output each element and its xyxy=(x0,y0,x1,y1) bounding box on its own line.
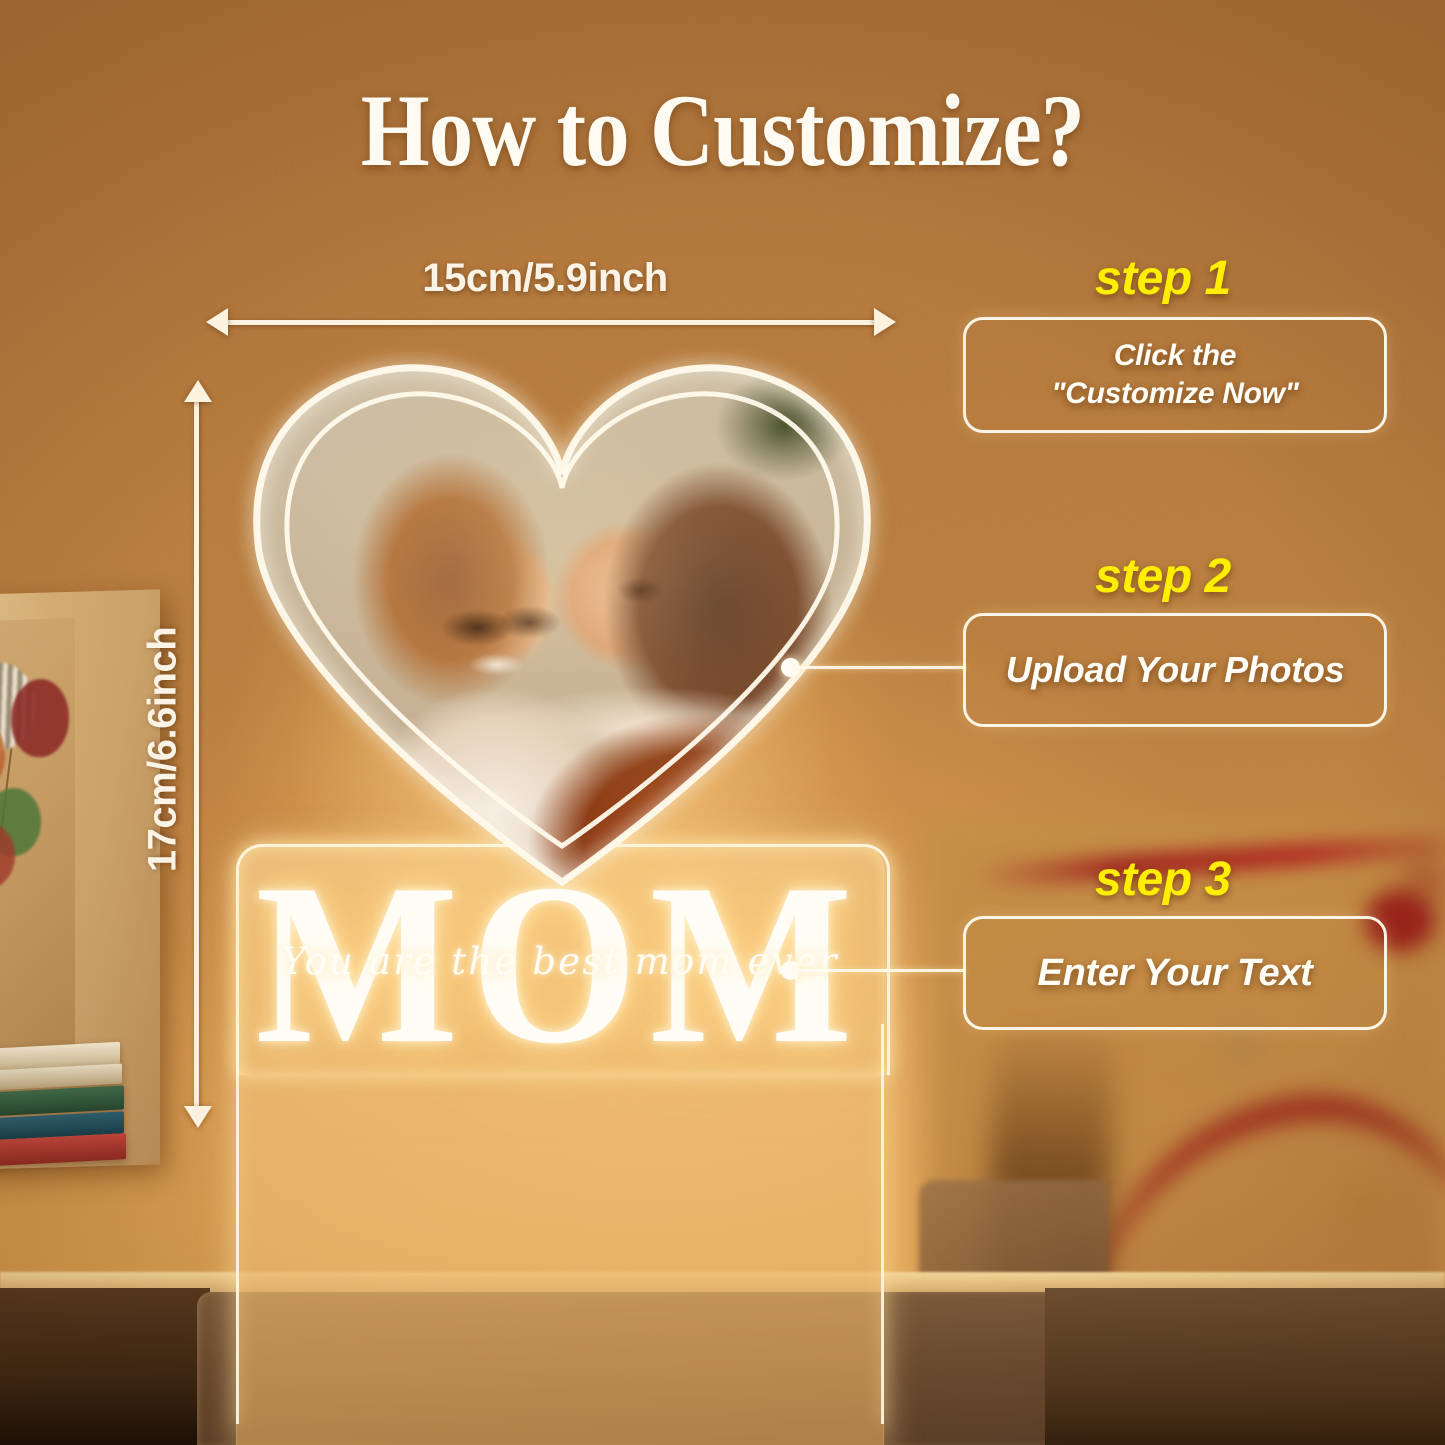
width-dimension-label: 15cm/5.9inch xyxy=(335,256,755,301)
heart-photo-clip xyxy=(236,352,888,882)
infographic-canvas: How to Customize? 15cm/5.9inch 17cm/6.6i… xyxy=(0,0,1445,1445)
arrow-left-icon xyxy=(206,308,228,336)
uploaded-photo xyxy=(236,352,888,882)
night-lamp-product: MOM You are the best mom ever xyxy=(228,352,896,1272)
step-2-label: step 2 xyxy=(1095,549,1231,604)
step-3-label: step 3 xyxy=(1095,852,1231,907)
height-dimension-label: 17cm/6.6inch xyxy=(141,540,186,960)
step-2-text: Upload Your Photos xyxy=(1006,649,1345,691)
step-1-text-line2: "Customize Now" xyxy=(1051,375,1298,413)
step-2-connector-line xyxy=(795,666,965,669)
heart-photo-area xyxy=(236,352,888,882)
step-1-label: step 1 xyxy=(1095,251,1231,306)
step-1-callout[interactable]: Click the "Customize Now" xyxy=(963,317,1387,433)
width-dimension-line xyxy=(222,320,878,325)
step-1-text-line1: Click the xyxy=(1051,337,1298,375)
arrow-down-icon xyxy=(184,1106,212,1128)
acrylic-panel-edge-right xyxy=(881,1024,884,1424)
step-3-connector-line xyxy=(795,969,965,972)
step-3-callout[interactable]: Enter Your Text xyxy=(963,916,1387,1030)
step-3-text: Enter Your Text xyxy=(1038,952,1313,995)
step-2-callout[interactable]: Upload Your Photos xyxy=(963,613,1387,727)
page-title: How to Customize? xyxy=(101,72,1344,190)
arrow-up-icon xyxy=(184,380,212,402)
acrylic-text-panel: MOM You are the best mom ever xyxy=(236,844,884,1445)
arrow-right-icon xyxy=(874,308,896,336)
acrylic-panel-edge-left xyxy=(236,1024,239,1424)
height-dimension-line xyxy=(194,398,199,1110)
